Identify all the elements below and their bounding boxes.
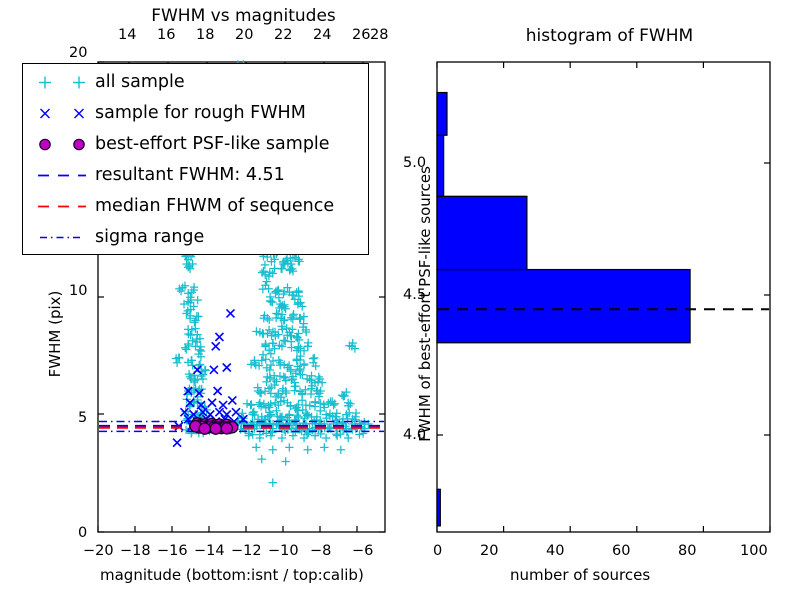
legend-label: sigma range: [95, 229, 204, 247]
legend-label: best-effort PSF-like sample: [95, 136, 330, 154]
legend: all sample sample for rough FWHM: [22, 63, 369, 255]
legend-marker-plus: [29, 67, 95, 98]
legend-marker-circle: [29, 129, 95, 160]
legend-item-sigma-range[interactable]: sigma range: [29, 222, 362, 253]
cross-icon: [41, 109, 84, 118]
left-panel: FWHM vs magnitudes 14 16 18 20 22 24 26 …: [0, 0, 400, 600]
legend-line-dashdot-blue: [29, 222, 95, 253]
legend-label: sample for rough FWHM: [95, 105, 306, 123]
legend-item-all-sample[interactable]: all sample: [29, 67, 362, 98]
legend-label: all sample: [95, 74, 185, 92]
histogram-bar: [437, 489, 440, 526]
right-panel: histogram of FWHM FWHM of best-effort PS…: [400, 0, 800, 600]
histogram-bar: [437, 93, 447, 136]
legend-item-psf-sample[interactable]: best-effort PSF-like sample: [29, 129, 362, 160]
legend-label: resultant FWHM: 4.51: [95, 167, 285, 185]
legend-line-dashed-red: [29, 191, 95, 222]
circle-icon: [40, 139, 84, 149]
legend-item-rough-sample[interactable]: sample for rough FWHM: [29, 98, 362, 129]
legend-marker-cross: [29, 98, 95, 129]
figure-canvas: FWHM vs magnitudes 14 16 18 20 22 24 26 …: [0, 0, 800, 600]
legend-item-resultant-fwhm[interactable]: resultant FWHM: 4.51: [29, 160, 362, 191]
legend-line-dashed-blue: [29, 160, 95, 191]
right-plot-area: [400, 0, 800, 600]
legend-label: median FHWM of sequence: [95, 198, 334, 216]
scatter-psf-sample: [190, 418, 238, 434]
histogram-bar: [437, 196, 527, 269]
histogram-bar: [437, 270, 690, 343]
histogram-bar: [437, 135, 444, 196]
legend-item-median-fwhm[interactable]: median FHWM of sequence: [29, 191, 362, 222]
plus-icon: [39, 77, 85, 89]
